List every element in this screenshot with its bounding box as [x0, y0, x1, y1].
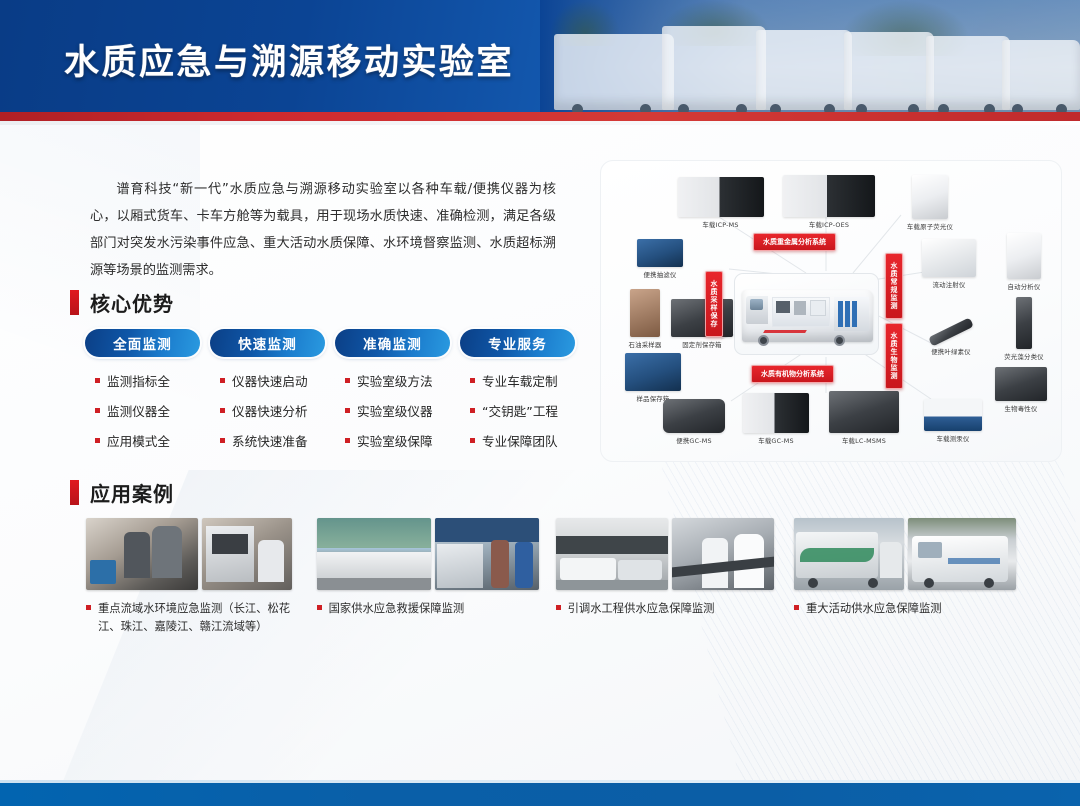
- list-item: “交钥匙”工程: [460, 399, 575, 421]
- bullet-square-icon: [86, 605, 91, 610]
- instrument-portable-gcms: 便携GC-MS: [653, 399, 735, 445]
- list-item: 监测指标全: [85, 369, 200, 391]
- advantage-item-label: “交钥匙”工程: [482, 401, 558, 420]
- instrument-icp-ms: 车载ICP-MS: [673, 177, 768, 229]
- case-caption-text: 重点流域水环境应急监测（长江、松花江、珠江、嘉陵江、赣江流域等）: [98, 600, 300, 636]
- instrument-chlorophyll-probe: 便携叶绿素仪: [915, 313, 987, 356]
- list-item: 实验室级保障: [335, 429, 450, 451]
- case-caption-text: 重大活动供水应急保障监测: [806, 600, 942, 618]
- truck-shape: [554, 34, 674, 110]
- advantage-item-label: 应用模式全: [107, 431, 170, 450]
- case-caption: 引调水工程供水应急保障监测: [556, 600, 777, 618]
- instrument-preservative-case: 固定剂保存箱: [659, 299, 745, 349]
- instrument-label: 便携GC-MS: [653, 436, 735, 445]
- bullet-square-icon: [95, 378, 100, 383]
- bullet-square-icon: [470, 408, 475, 413]
- list-item: 实验室级仪器: [335, 399, 450, 421]
- case-group-water-diversion: 引调水工程供水应急保障监测: [556, 518, 777, 636]
- list-item: 实验室级方法: [335, 369, 450, 391]
- bullet-square-icon: [345, 438, 350, 443]
- instrument-label: 车载ICP-OES: [779, 220, 879, 229]
- advantage-pill-label: 快速监测: [238, 333, 297, 353]
- bullet-square-icon: [470, 378, 475, 383]
- instrument-vehicle-gcms: 车载GC-MS: [735, 393, 817, 445]
- instrument-vehicle-lcmsms: 车载LC-MSMS: [819, 391, 909, 445]
- instrument-atomic-fluorescence: 车载原子荧光仪: [891, 175, 969, 231]
- instrument-label: 固定剂保存箱: [659, 340, 745, 349]
- list-item: 专业车载定制: [460, 369, 575, 391]
- instrument-label: 车载GC-MS: [735, 436, 817, 445]
- footer-bar: [0, 783, 1080, 806]
- advantage-pill-label: 全面监测: [113, 333, 172, 353]
- page-title: 水质应急与溯源移动实验室: [64, 34, 514, 85]
- case-photo[interactable]: [435, 518, 539, 590]
- advantage-item-label: 监测指标全: [107, 371, 170, 390]
- badge-bio-monitoring: 水质生物监测: [885, 323, 903, 389]
- case-photo[interactable]: [556, 518, 668, 590]
- bullet-square-icon: [220, 378, 225, 383]
- instrument-label: 荧光藻分类仪: [989, 352, 1059, 361]
- instrument-icp-oes: 车载ICP-OES: [779, 175, 879, 229]
- truck-shape: [844, 32, 934, 110]
- list-item: 仪器快速分析: [210, 399, 325, 421]
- bullet-square-icon: [220, 438, 225, 443]
- advantage-pill-label: 准确监测: [363, 333, 422, 353]
- bullet-square-icon: [317, 605, 322, 610]
- advantage-column: 专业服务 专业车载定制 “交钥匙”工程 专业保障团队: [460, 329, 575, 459]
- instrument-portable-filter: 便携抽滤仪: [615, 239, 705, 279]
- section-title: 核心优势: [90, 288, 174, 317]
- bullet-square-icon: [220, 408, 225, 413]
- case-photo[interactable]: [86, 518, 198, 590]
- bullet-square-icon: [345, 408, 350, 413]
- bullet-square-icon: [95, 438, 100, 443]
- red-bar-marker-icon: [70, 290, 79, 315]
- intro-paragraph: 谱育科技“新一代”水质应急与溯源移动实验室以各种车载/便携仪器为核心，以厢式货车…: [90, 176, 556, 284]
- badge-routine-monitoring: 水质常规监测: [885, 253, 903, 319]
- instrument-label: 车载LC-MSMS: [819, 436, 909, 445]
- case-group-major-events: 重大活动供水应急保障监测: [794, 518, 1016, 636]
- advantage-column: 全面监测 监测指标全 监测仪器全 应用模式全: [85, 329, 200, 459]
- list-item: 专业保障团队: [460, 429, 575, 451]
- advantage-pill-fast[interactable]: 快速监测: [210, 329, 325, 357]
- advantage-columns: 全面监测 监测指标全 监测仪器全 应用模式全 快速监测 仪器快速启动 仪器快速分…: [85, 329, 595, 459]
- badge-organic-system: 水质有机物分析系统: [751, 365, 834, 383]
- banner-truck-fleet-photo: [540, 0, 1080, 112]
- advantage-list: 实验室级方法 实验室级仪器 实验室级保障: [335, 369, 450, 459]
- header-banner: 水质应急与溯源移动实验室: [0, 0, 1080, 112]
- system-diagram-panel: 车载ICP-MS 车载ICP-OES 车载原子荧光仪 水质重金属分析系统 便携抽…: [600, 160, 1062, 462]
- case-caption: 国家供水应急救援保障监测: [317, 600, 539, 618]
- case-photo[interactable]: [908, 518, 1016, 590]
- advantage-item-label: 监测仪器全: [107, 401, 170, 420]
- mobile-lab-vehicle-image: [742, 290, 873, 342]
- advantage-pill-label: 专业服务: [488, 333, 547, 353]
- advantage-item-label: 实验室级仪器: [357, 401, 433, 420]
- section-heading-application-cases: 应用案例: [70, 478, 174, 507]
- case-image-row: [86, 518, 300, 590]
- advantage-item-label: 专业保障团队: [482, 431, 558, 450]
- instrument-mercury-analyzer: 车载测汞仪: [913, 399, 993, 443]
- truck-shape: [1002, 40, 1080, 110]
- case-caption: 重大活动供水应急保障监测: [794, 600, 1016, 618]
- application-case-groups: 重点流域水环境应急监测（长江、松花江、珠江、嘉陵江、赣江流域等）: [86, 518, 1016, 636]
- advantage-item-label: 实验室级保障: [357, 431, 433, 450]
- case-photo[interactable]: [672, 518, 774, 590]
- advantage-column: 快速监测 仪器快速启动 仪器快速分析 系统快速准备: [210, 329, 325, 459]
- list-item: 仪器快速启动: [210, 369, 325, 391]
- instrument-sample-cooler: 样品保存箱: [611, 353, 695, 403]
- wheel-shape: [758, 335, 769, 346]
- advantage-item-label: 专业车载定制: [482, 371, 558, 390]
- banner-white-stripe: [0, 121, 1080, 125]
- section-heading-core-advantages: 核心优势: [70, 288, 174, 317]
- advantage-item-label: 实验室级方法: [357, 371, 433, 390]
- case-photo[interactable]: [317, 518, 431, 590]
- banner-red-stripe: [0, 112, 1080, 121]
- instrument-label: 便携抽滤仪: [615, 270, 705, 279]
- advantage-list: 监测指标全 监测仪器全 应用模式全: [85, 369, 200, 459]
- poster-page: 水质应急与溯源移动实验室 谱育科技“新一代”水质应急与溯源移动实验室以各种车载/…: [0, 0, 1080, 806]
- instrument-label: 车载ICP-MS: [673, 220, 768, 229]
- bullet-square-icon: [470, 438, 475, 443]
- badge-water-sampling-preservation: 水质采样保存: [705, 271, 723, 337]
- truck-shape: [662, 26, 766, 110]
- advantage-pill-comprehensive[interactable]: 全面监测: [85, 329, 200, 357]
- case-photo[interactable]: [794, 518, 904, 590]
- case-image-row: [556, 518, 777, 590]
- red-bar-marker-icon: [70, 480, 79, 505]
- instrument-label: 车载测汞仪: [913, 434, 993, 443]
- case-group-basin: 重点流域水环境应急监测（长江、松花江、珠江、嘉陵江、赣江流域等）: [86, 518, 300, 636]
- instrument-label: 便携叶绿素仪: [915, 347, 987, 356]
- instrument-auto-analyzer: 自动分析仪: [993, 233, 1055, 291]
- instrument-label: 车载原子荧光仪: [891, 222, 969, 231]
- advantage-column: 准确监测 实验室级方法 实验室级仪器 实验室级保障: [335, 329, 450, 459]
- bullet-square-icon: [345, 378, 350, 383]
- case-photo[interactable]: [202, 518, 292, 590]
- instrument-label: 流动注射仪: [913, 280, 985, 289]
- instrument-algae-classifier: 荧光藻分类仪: [989, 297, 1059, 361]
- advantage-pill-accurate[interactable]: 准确监测: [335, 329, 450, 357]
- case-group-national-water: 国家供水应急救援保障监测: [317, 518, 539, 636]
- advantage-item-label: 系统快速准备: [232, 431, 308, 450]
- case-image-row: [794, 518, 1016, 590]
- advantage-pill-service[interactable]: 专业服务: [460, 329, 575, 357]
- case-caption: 重点流域水环境应急监测（长江、松花江、珠江、嘉陵江、赣江流域等）: [86, 600, 300, 636]
- case-caption-text: 国家供水应急救援保障监测: [329, 600, 465, 618]
- instrument-label: 生物毒性仪: [983, 404, 1059, 413]
- bullet-square-icon: [95, 408, 100, 413]
- instrument-biotoxicity: 生物毒性仪: [983, 367, 1059, 413]
- mobile-lab-vehicle-box: [734, 273, 879, 355]
- advantage-list: 仪器快速启动 仪器快速分析 系统快速准备: [210, 369, 325, 459]
- instrument-flow-injection: 流动注射仪: [913, 239, 985, 289]
- badge-heavy-metal-system: 水质重金属分析系统: [753, 233, 836, 251]
- list-item: 监测仪器全: [85, 399, 200, 421]
- wheel-shape: [834, 335, 845, 346]
- case-caption-text: 引调水工程供水应急保障监测: [568, 600, 715, 618]
- case-image-row: [317, 518, 539, 590]
- advantage-list: 专业车载定制 “交钥匙”工程 专业保障团队: [460, 369, 575, 459]
- truck-shape: [926, 36, 1010, 110]
- list-item: 应用模式全: [85, 429, 200, 451]
- instrument-label: 自动分析仪: [993, 282, 1055, 291]
- bullet-square-icon: [556, 605, 561, 610]
- advantage-item-label: 仪器快速启动: [232, 371, 308, 390]
- list-item: 系统快速准备: [210, 429, 325, 451]
- advantage-item-label: 仪器快速分析: [232, 401, 308, 420]
- section-title: 应用案例: [90, 478, 174, 507]
- truck-shape: [756, 30, 852, 110]
- bullet-square-icon: [794, 605, 799, 610]
